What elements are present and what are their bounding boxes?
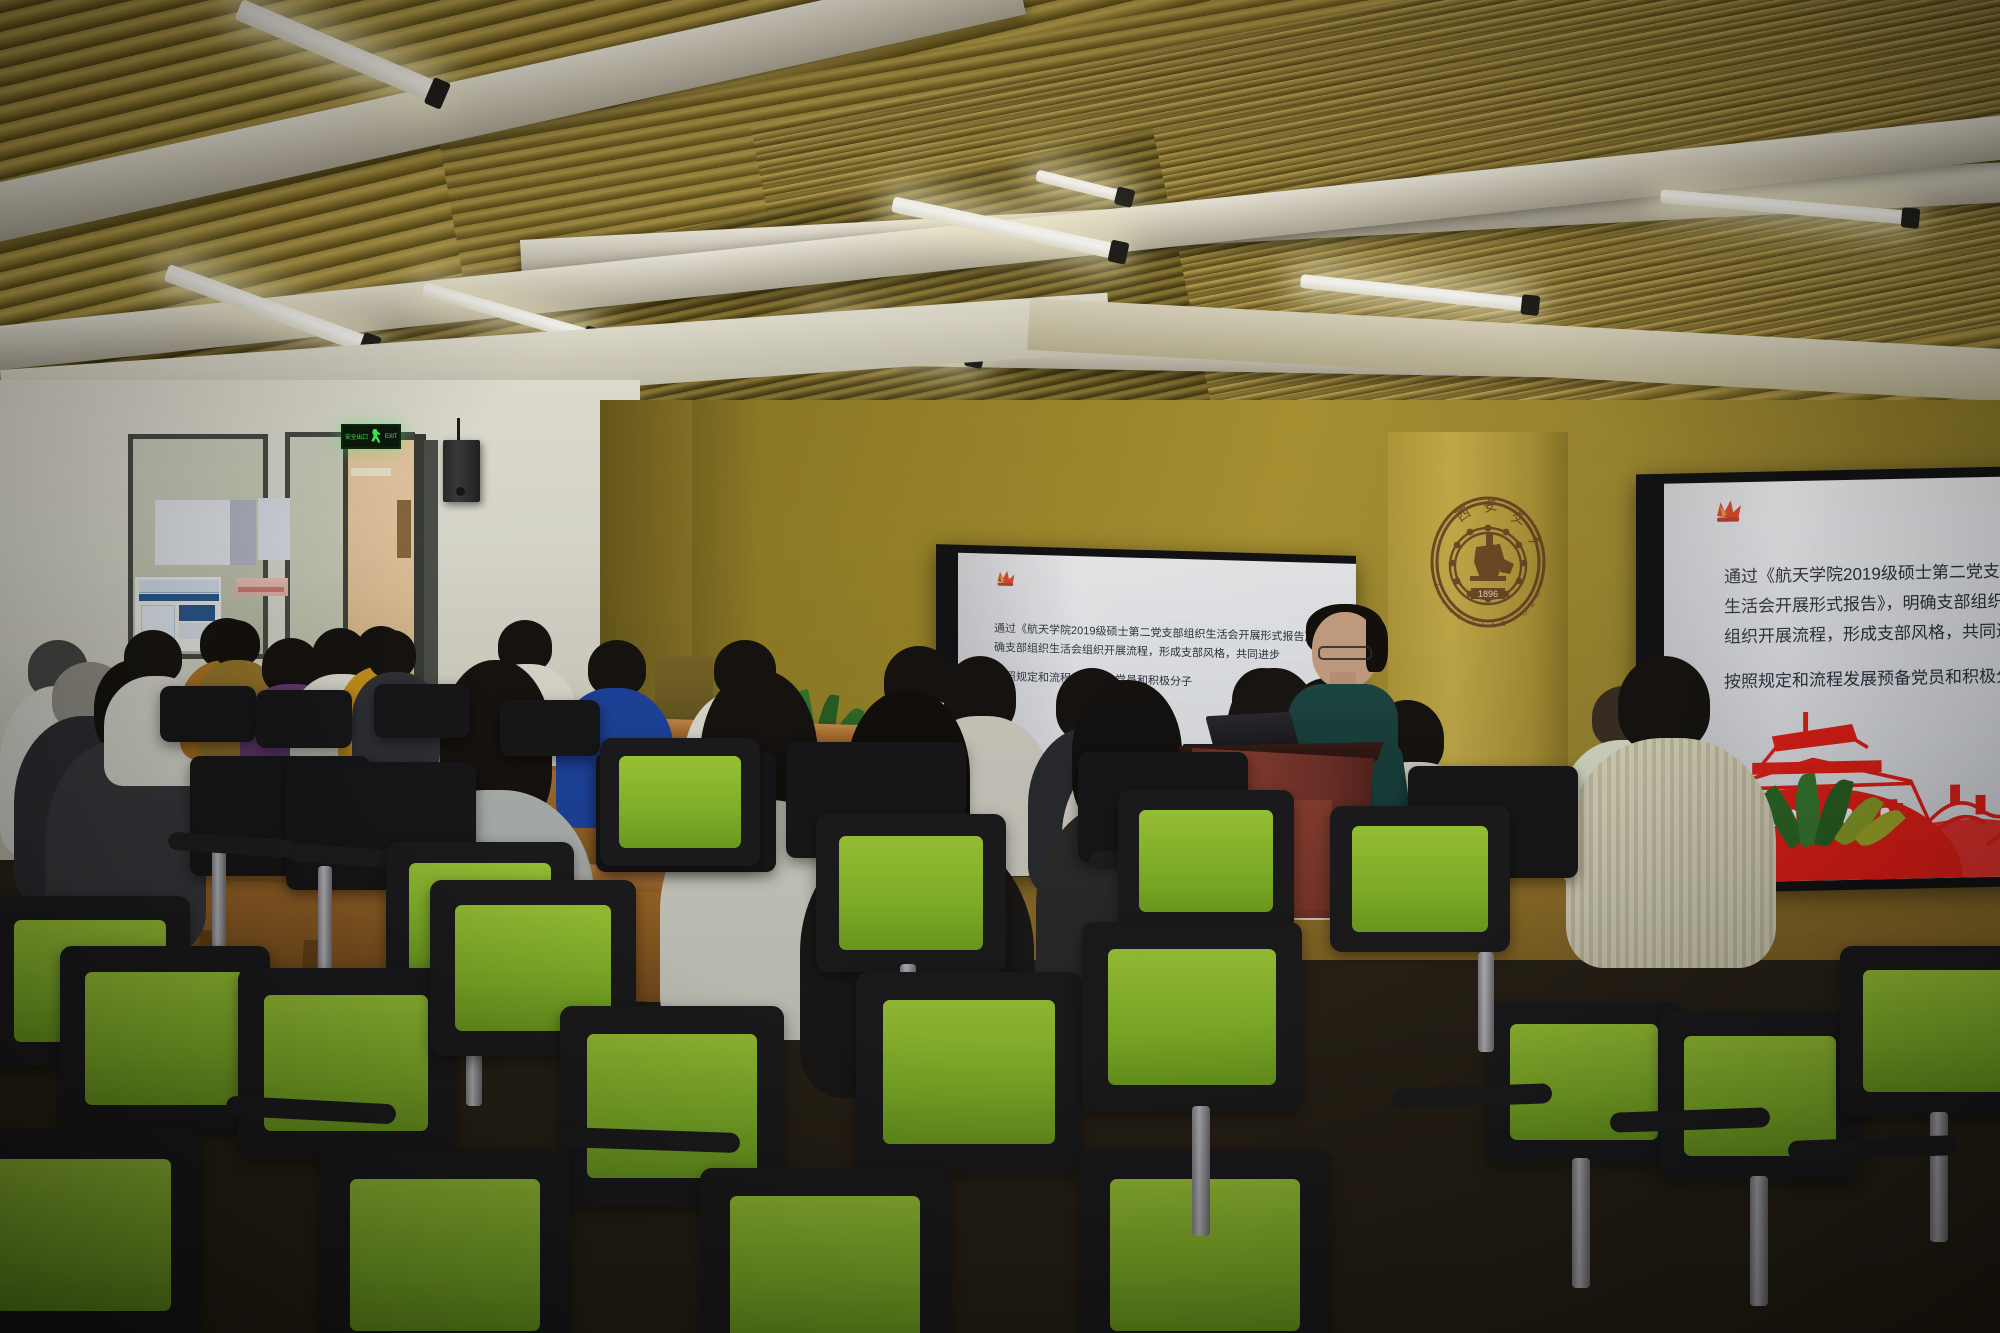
chair-mesh-panel	[350, 1179, 540, 1330]
svg-text:安: 安	[1482, 498, 1499, 516]
right-slide-text: 通过《航天学院2019级硕士第二党支部组织生活会开展形式报告》，明确支部组织生活…	[1724, 555, 2000, 712]
slide-paragraph: 按照规定和流程发展预备党员和积极分子	[1724, 660, 2000, 697]
svg-text:O: O	[1520, 609, 1529, 618]
chair-back[interactable]	[600, 738, 760, 866]
chair-mesh-panel	[1684, 1036, 1836, 1157]
corridor-ceiling-light	[351, 468, 391, 476]
chair-back[interactable]	[374, 684, 470, 738]
chair-mesh-panel	[1139, 810, 1273, 912]
chair-mesh-panel	[730, 1196, 920, 1333]
window-reflection	[258, 498, 290, 560]
notice-board-subheader	[139, 594, 219, 601]
chair-post	[1750, 1176, 1768, 1306]
chair-back[interactable]	[0, 1130, 200, 1333]
window-reflection	[230, 500, 256, 565]
cpc-party-emblem-icon	[1712, 496, 1746, 527]
seal-year: 1896	[1478, 589, 1498, 599]
chair-back[interactable]	[500, 700, 600, 756]
running-man-icon	[370, 429, 383, 444]
chair-back[interactable]	[1082, 922, 1302, 1112]
slide-paragraph: 通过《航天学院2019级硕士第二党支部组织生活会开展形式报告》，明确支部组织生活…	[1724, 555, 2000, 651]
svg-text:T: T	[1511, 616, 1519, 625]
slide-paragraph: 通过《航天学院2019级硕士第二党支部组织生活会开展形式报告》，明确支部组织生活…	[994, 620, 1342, 668]
chair-mesh-panel	[1863, 970, 2000, 1092]
window-reflection	[155, 500, 230, 565]
notice-card	[179, 605, 215, 621]
exit-sign-label-en: EXIT	[385, 434, 397, 440]
svg-text:I: I	[1482, 622, 1484, 629]
corridor-wood-panel	[397, 500, 411, 558]
chair-post	[1192, 1106, 1210, 1236]
chair-mesh-panel	[0, 1159, 171, 1310]
potted-plant	[1766, 772, 1916, 902]
audience-person	[1566, 738, 1776, 968]
lecture-room-photo: 1896 西 安 交 大 X I ' A N J I A O T O N G	[0, 0, 2000, 1333]
chair-back[interactable]	[1118, 790, 1294, 932]
chair-back[interactable]	[816, 814, 1006, 972]
audience-head	[368, 630, 416, 678]
chair-back[interactable]	[320, 1150, 570, 1333]
chair-post	[1930, 1112, 1948, 1242]
chair-post	[1478, 952, 1494, 1052]
chair-mesh-panel	[883, 1000, 1055, 1144]
chair-back[interactable]	[856, 972, 1082, 1172]
chair-mesh-panel	[839, 836, 983, 950]
chair-back[interactable]	[700, 1168, 950, 1333]
chair-mesh-panel	[1311, 810, 1445, 912]
door-leaf[interactable]	[424, 440, 438, 698]
chair-back[interactable]	[1840, 946, 2000, 1116]
chair-post	[212, 848, 226, 958]
chair-mesh-panel	[587, 1034, 757, 1178]
chair-mesh-panel	[85, 972, 245, 1105]
chair-back[interactable]	[1486, 1002, 1682, 1162]
glasses-icon	[1318, 646, 1372, 660]
exit-sign-label-cn: 安全出口	[345, 432, 368, 441]
xjtu-seal-icon: 1896 西 安 交 大 X I ' A N J I A O T O N G	[1424, 492, 1552, 632]
notice-board-header	[139, 580, 219, 593]
chair-mesh-panel	[1108, 949, 1275, 1086]
chair-back[interactable]	[256, 690, 352, 748]
cpc-party-emblem-icon	[994, 568, 1018, 590]
chair-mesh-panel	[619, 756, 741, 848]
chair-back[interactable]	[238, 968, 454, 1158]
wall-poster	[236, 578, 288, 596]
chair-back[interactable]	[160, 686, 256, 742]
chair-post	[1572, 1158, 1590, 1288]
chair-post	[318, 866, 332, 976]
emergency-exit-sign: 安全出口 EXIT	[341, 424, 401, 449]
svg-text:A: A	[1490, 622, 1496, 629]
wall-mounted-speaker	[443, 440, 480, 502]
